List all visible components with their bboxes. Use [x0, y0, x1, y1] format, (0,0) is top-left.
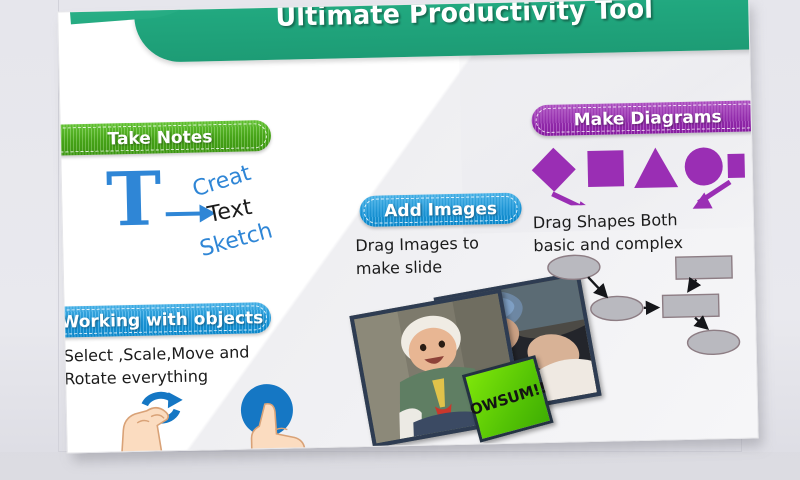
section-header-make-diagrams[interactable]: Make Diagrams [531, 100, 758, 136]
slide-canvas[interactable]: Ultimate Productivity Tool Take Notes T … [57, 0, 758, 453]
flow-node-process [663, 294, 719, 317]
flow-connector-1 [588, 277, 606, 297]
drag-arrow-right-icon [692, 182, 731, 209]
flow-node-end [687, 330, 740, 355]
flow-connector-3 [688, 280, 696, 291]
section-header-add-images[interactable]: Add Images [359, 192, 522, 227]
make-diagrams-label: Make Diagrams [573, 107, 721, 130]
take-notes-label: Take Notes [107, 127, 212, 149]
images-desc-line-2: make slide [356, 253, 536, 280]
rectangle-shape-icon [727, 153, 745, 178]
title-banner: Ultimate Productivity Tool [133, 0, 758, 63]
add-images-label: Add Images [384, 199, 497, 221]
text-tool-icon: T [106, 162, 163, 237]
sticky-note-text: OWSUM!! [467, 379, 548, 420]
flowchart-illustration[interactable] [544, 250, 751, 359]
hand-gestures-illustration [106, 379, 333, 454]
flow-node-start [548, 255, 601, 280]
flow-connector-4 [695, 317, 707, 328]
working-with-objects-label: Working with objects [60, 308, 263, 332]
section-header-working-with-objects[interactable]: Working with objects [57, 302, 271, 338]
add-images-description: Drag Images to make slide [355, 230, 536, 280]
flow-node-input [676, 256, 732, 279]
notes-word-text: Text [206, 195, 255, 228]
flow-node-middle [591, 296, 644, 321]
pinch-hand-icon [121, 407, 169, 453]
presentation-slide[interactable]: Ultimate Productivity Tool Take Notes T … [57, 0, 757, 459]
section-header-take-notes[interactable]: Take Notes [57, 120, 271, 156]
